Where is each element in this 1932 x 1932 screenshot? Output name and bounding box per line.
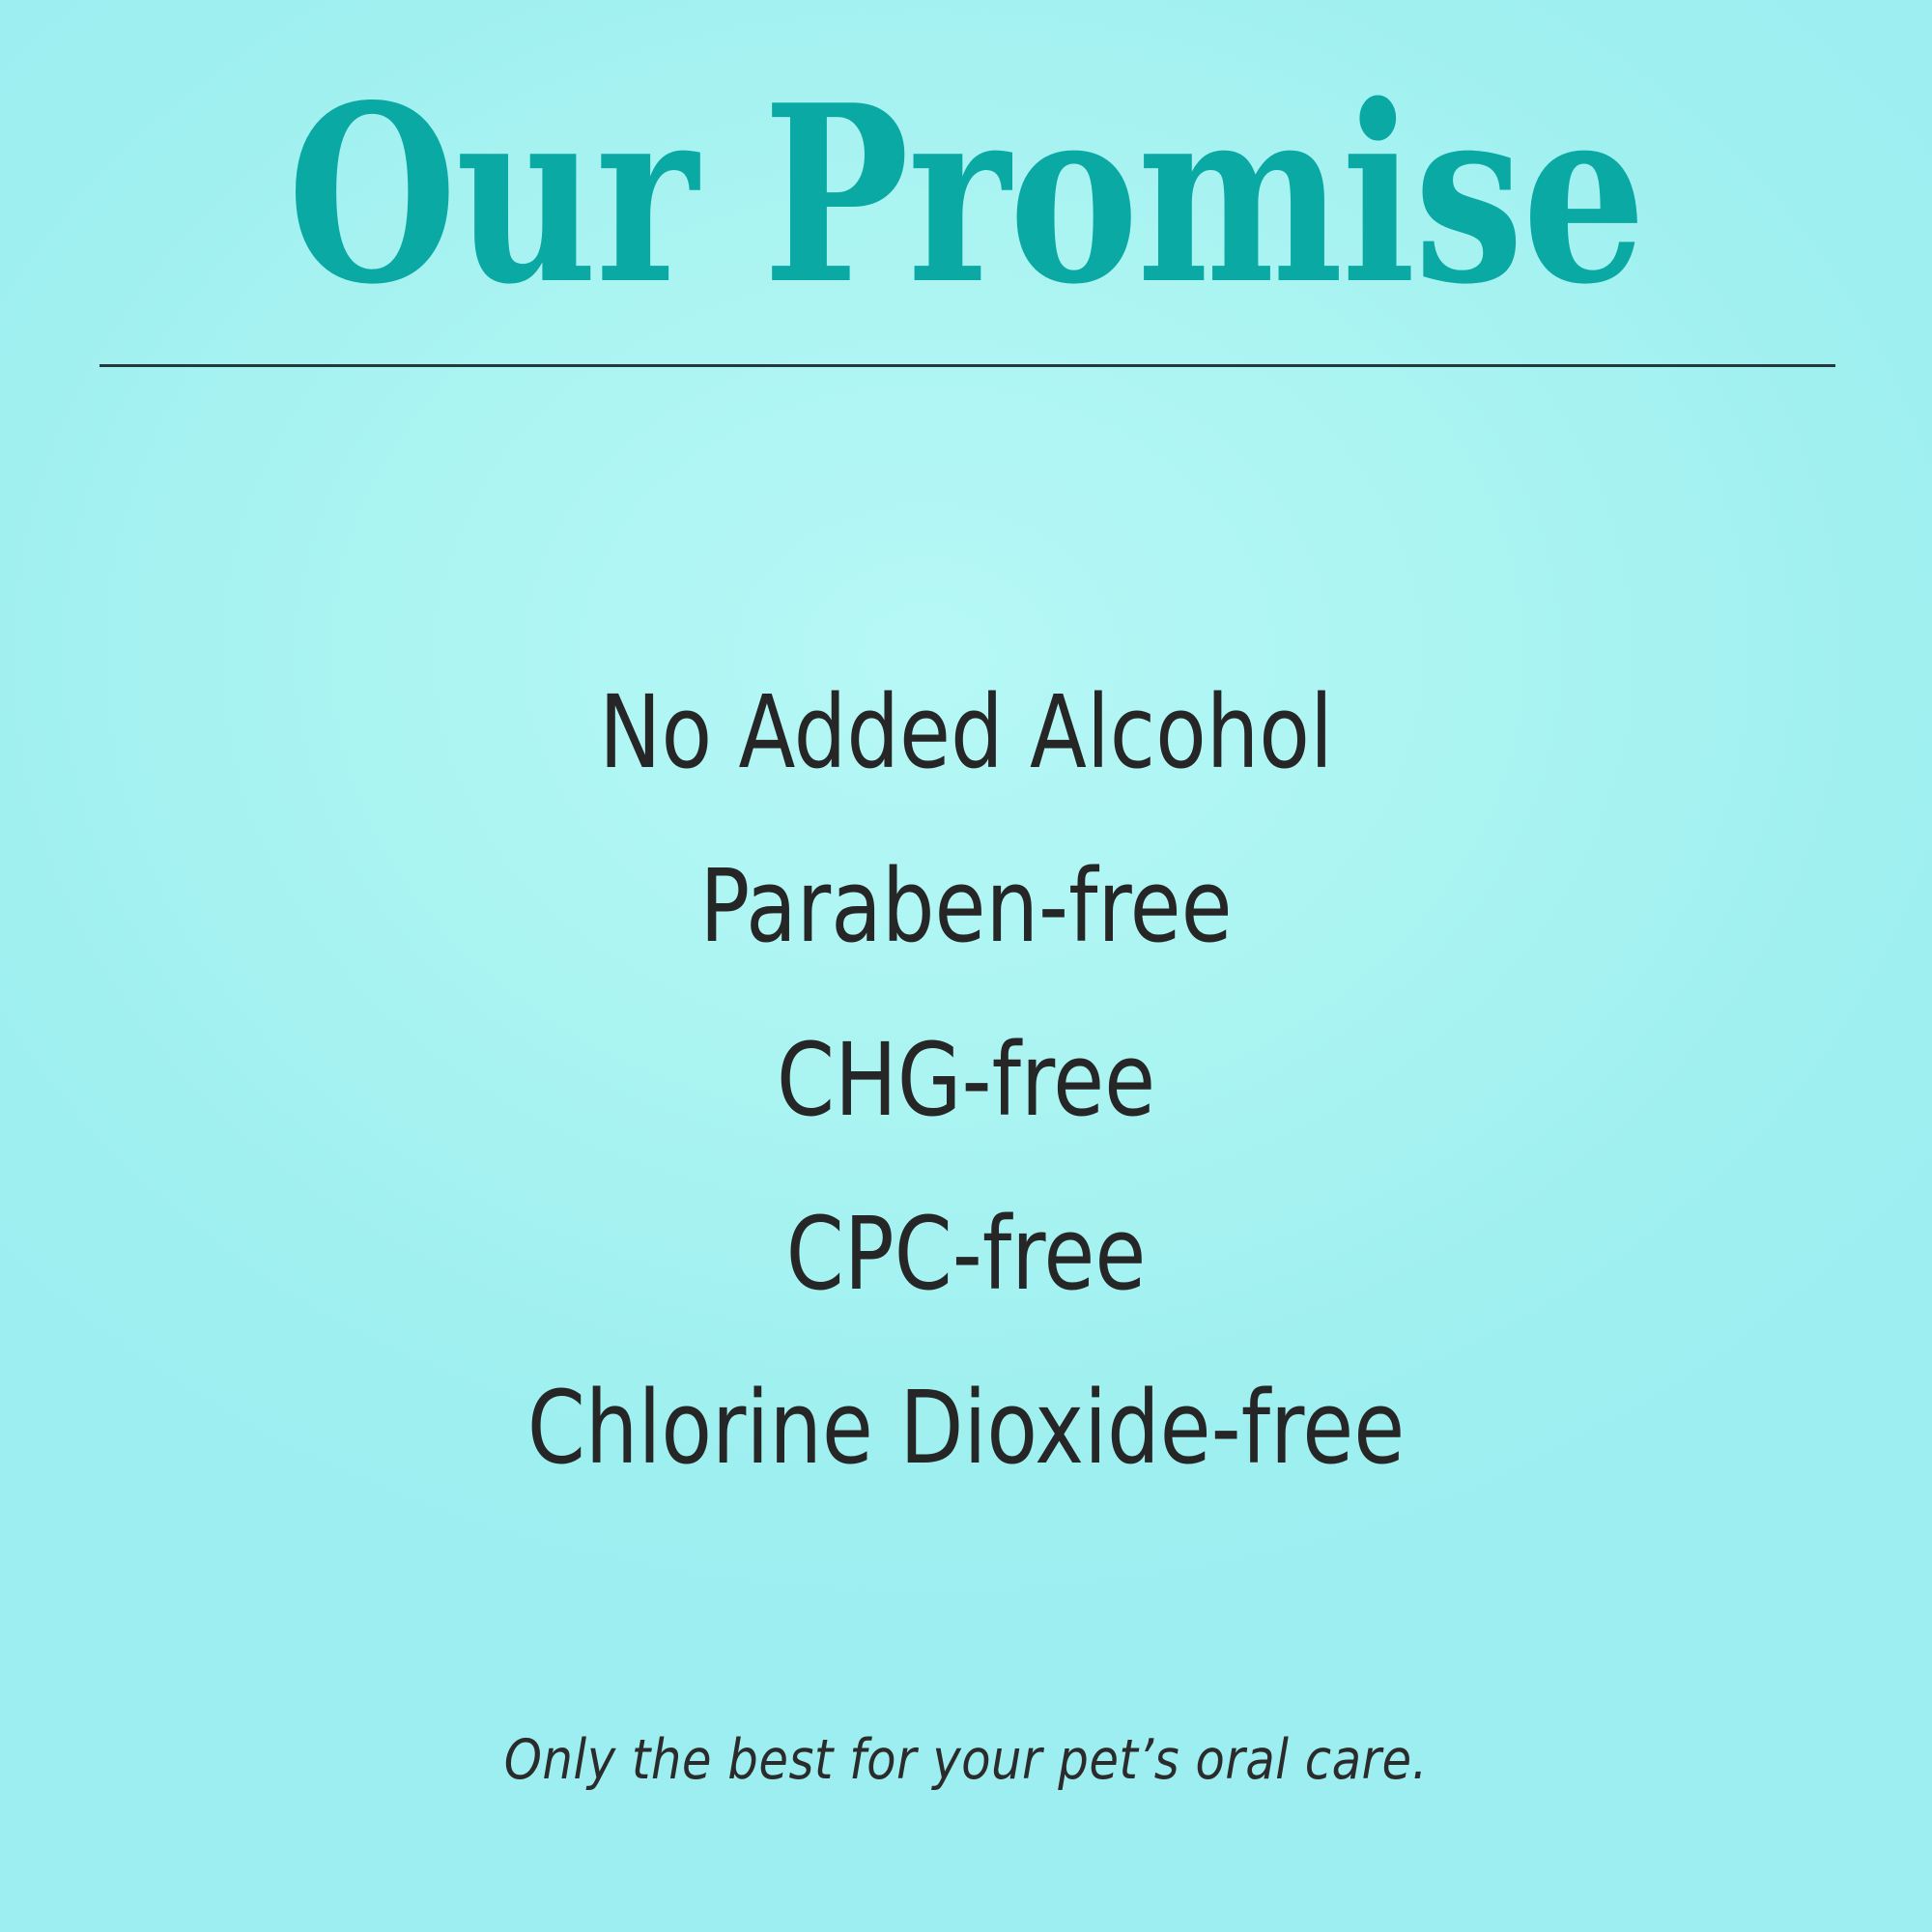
list-item: CPC-free xyxy=(77,1167,1855,1341)
footer-tagline: Only the best for your pet’s oral care. xyxy=(0,1727,1932,1793)
list-item: Paraben-free xyxy=(77,819,1855,993)
promise-poster: Our Promise No Added Alcohol Paraben-fre… xyxy=(0,0,1932,1932)
list-item: CHG-free xyxy=(77,993,1855,1167)
list-item: Chlorine Dioxide-free xyxy=(77,1341,1855,1515)
claims-list: No Added Alcohol Paraben-free CHG-free C… xyxy=(0,645,1932,1515)
list-item: No Added Alcohol xyxy=(77,645,1855,819)
title-block: Our Promise xyxy=(0,73,1932,317)
header-divider xyxy=(99,364,1835,367)
page-title: Our Promise xyxy=(193,73,1739,317)
tagline-text: Only the best for your pet’s oral care. xyxy=(504,1727,1428,1793)
